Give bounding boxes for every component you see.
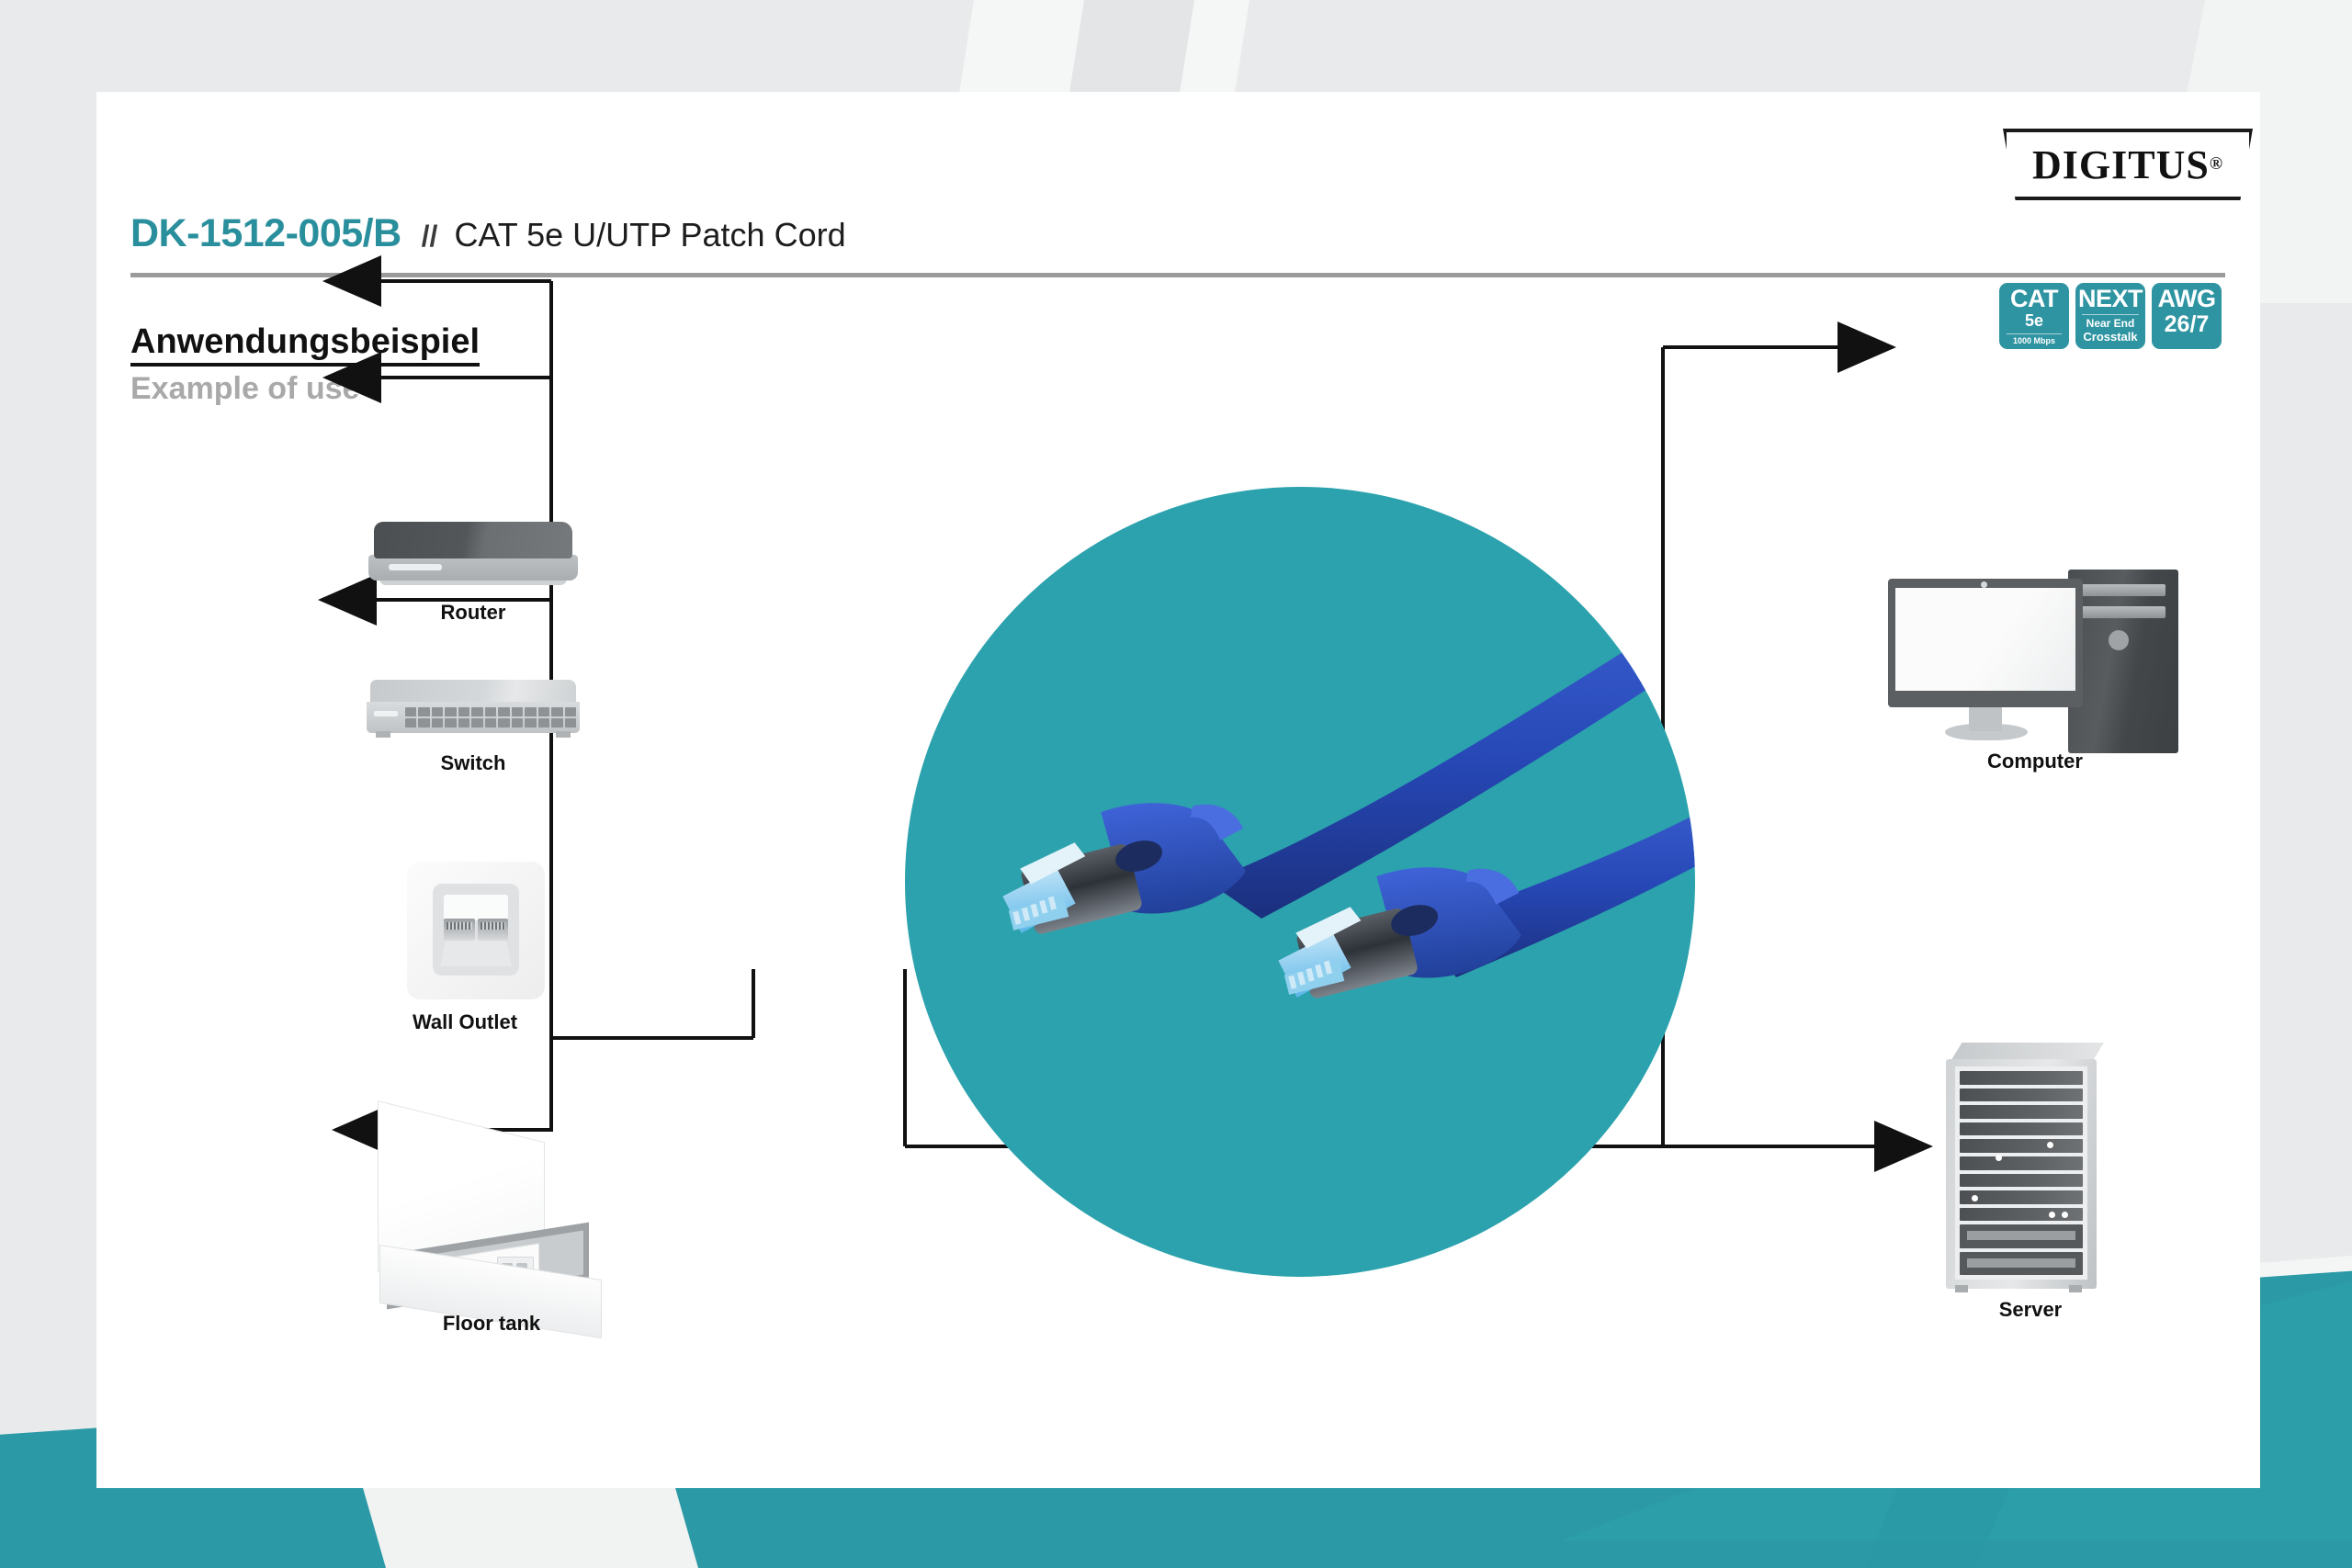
node-switch-label: Switch (363, 751, 583, 775)
outlet-blank-field (444, 895, 508, 920)
node-server-label: Server (1939, 1298, 2122, 1322)
patch-cord-image (905, 487, 1695, 1277)
usage-diagram: Router Switch Wall Outlet (96, 92, 2260, 1488)
switch-port-array (405, 707, 576, 728)
server-bay (1960, 1105, 2083, 1119)
server-foot-left (1955, 1285, 1968, 1292)
server-led-3 (1972, 1195, 1978, 1201)
server-bay (1960, 1089, 2083, 1102)
server-led-4 (2049, 1212, 2055, 1218)
server-bay-wide (1960, 1252, 2083, 1275)
outlet-jack-2 (478, 919, 509, 941)
node-router: Router (363, 522, 583, 588)
server-bay-wide (1960, 1224, 2083, 1247)
outlet-jack-1 (444, 919, 475, 941)
computer-monitor (1888, 579, 2083, 707)
node-computer: Computer (1888, 570, 2182, 772)
node-router-label: Router (363, 601, 583, 625)
switch-top-shell (370, 680, 576, 704)
node-computer-label: Computer (1888, 750, 2182, 773)
monitor-screen (1895, 588, 2075, 691)
switch-foot-right (556, 731, 571, 738)
server-front-face (1955, 1066, 2087, 1280)
server-led-2 (1996, 1155, 2002, 1161)
computer-tower (2068, 570, 2178, 753)
computer-power-button (2109, 630, 2129, 650)
router-top-shell (374, 522, 572, 558)
server-foot-right (2069, 1285, 2082, 1292)
computer-drive-bay-1 (2081, 584, 2165, 596)
node-wall-outlet-label: Wall Outlet (396, 1010, 534, 1034)
router-led-strip (389, 564, 442, 570)
node-switch: Switch (363, 680, 583, 740)
server-led-1 (2047, 1142, 2053, 1148)
server-bay (1960, 1071, 2083, 1085)
outlet-skirt (440, 939, 512, 966)
server-bay (1960, 1190, 2083, 1204)
server-bay (1960, 1174, 2083, 1188)
monitor-stand (1969, 705, 2002, 731)
node-wall-outlet: Wall Outlet (407, 862, 545, 999)
node-floor-tank: Floor tank (354, 1100, 629, 1321)
node-floor-tank-label: Floor tank (354, 1312, 629, 1336)
switch-foot-left (376, 731, 390, 738)
server-bay (1960, 1139, 2083, 1153)
monitor-webcam (1981, 581, 1987, 588)
server-bay (1960, 1122, 2083, 1136)
outlet-rj45-jacks (444, 919, 508, 941)
node-server: Server (1939, 1043, 2122, 1309)
switch-label-plate (374, 711, 398, 716)
server-bay (1960, 1156, 2083, 1170)
server-led-5 (2062, 1212, 2068, 1218)
computer-drive-bay-2 (2081, 606, 2165, 618)
